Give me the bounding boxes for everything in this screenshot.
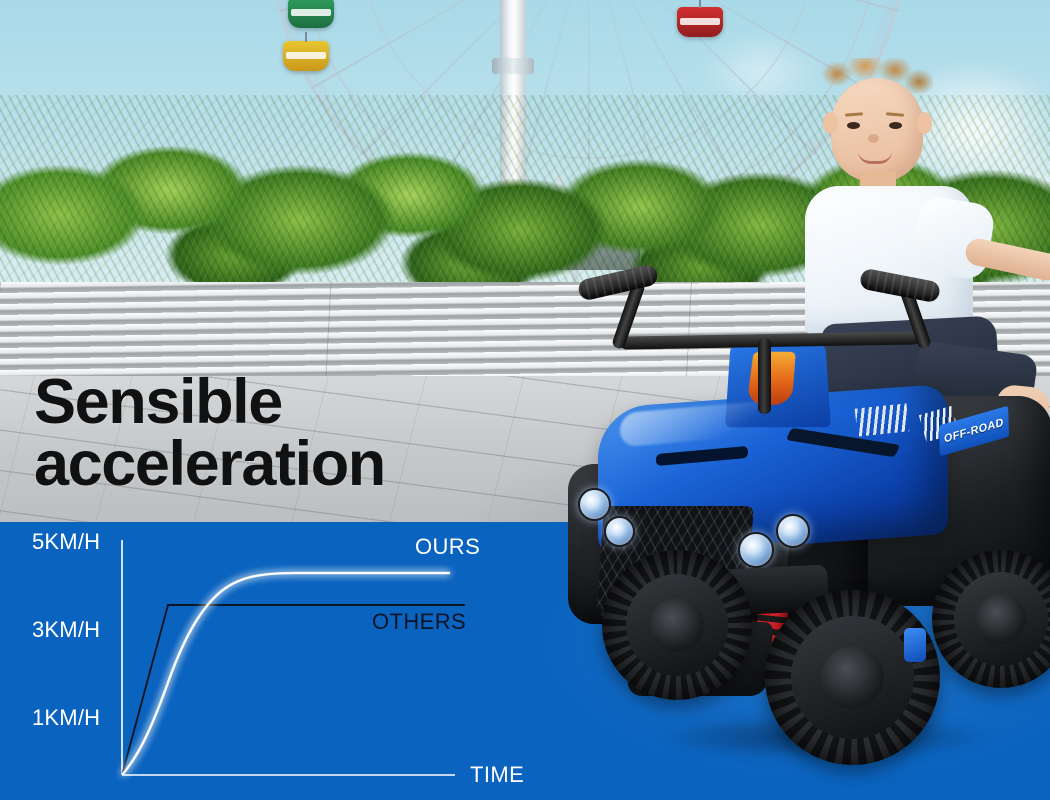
y-tick-label-1: 1KM/H bbox=[32, 705, 100, 731]
head bbox=[831, 78, 923, 182]
louver-decal bbox=[855, 403, 910, 436]
y-tick-label-3: 3KM/H bbox=[32, 617, 100, 643]
series-label-others: OTHERS bbox=[372, 609, 466, 635]
series-label-ours: OURS bbox=[415, 534, 480, 560]
promo-banner: Sensible acceleration 5KM/H 3KM/H 1K bbox=[0, 0, 1050, 800]
flame-decal bbox=[747, 352, 796, 405]
sleeve bbox=[910, 195, 997, 282]
headlight-icon bbox=[604, 516, 635, 547]
wheel-hub bbox=[492, 58, 534, 74]
headlight-icon bbox=[776, 514, 810, 548]
series-ours bbox=[122, 573, 450, 775]
nose bbox=[868, 134, 879, 143]
headlight-icon bbox=[578, 488, 611, 521]
tire bbox=[602, 550, 752, 700]
x-axis-label: TIME bbox=[470, 762, 524, 788]
ear bbox=[917, 112, 932, 134]
handlebar-grip bbox=[577, 263, 660, 301]
gondola bbox=[677, 7, 723, 37]
eye bbox=[847, 122, 860, 129]
tire bbox=[765, 590, 940, 765]
y-tick-label-5: 5KM/H bbox=[32, 529, 100, 555]
wheel-cap bbox=[904, 628, 926, 662]
headlight-icon bbox=[738, 532, 774, 568]
acceleration-chart bbox=[0, 522, 560, 800]
handlebar-stem bbox=[758, 338, 771, 414]
chart-svg bbox=[0, 522, 560, 800]
ride-on-atv: OFF-ROAD bbox=[560, 250, 1050, 800]
ear bbox=[823, 112, 838, 134]
gondola bbox=[283, 41, 329, 71]
gondola bbox=[288, 0, 334, 28]
page-title: Sensible acceleration bbox=[34, 372, 385, 495]
eye bbox=[889, 122, 902, 129]
